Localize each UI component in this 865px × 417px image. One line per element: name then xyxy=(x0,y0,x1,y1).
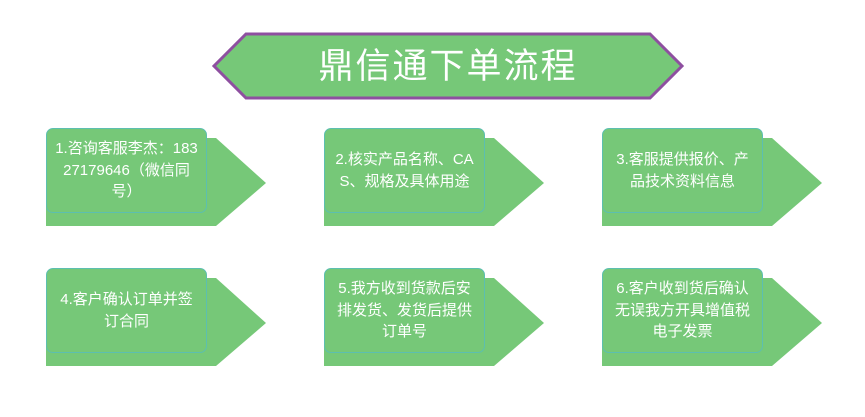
step-label-text: 1.咨询客服李杰：18327179646（微信同号） xyxy=(54,138,199,203)
step-label-text: 6.客户收到货后确认无误我方开具增值税电子发票 xyxy=(610,278,755,343)
step-label-box: 1.咨询客服李杰：18327179646（微信同号） xyxy=(46,128,207,213)
step-label-box: 6.客户收到货后确认无误我方开具增值税电子发票 xyxy=(602,268,763,353)
step-label-box: 2.核实产品名称、CAS、规格及具体用途 xyxy=(324,128,485,213)
flowchart-title-banner: 鼎信通下单流程 xyxy=(212,32,684,100)
process-step-4[interactable]: 4.客户确认订单并签订合同 xyxy=(44,268,274,368)
page-title: 鼎信通下单流程 xyxy=(212,32,684,100)
process-step-6[interactable]: 6.客户收到货后确认无误我方开具增值税电子发票 xyxy=(600,268,830,368)
step-label-box: 3.客服提供报价、产品技术资料信息 xyxy=(602,128,763,213)
process-step-1[interactable]: 1.咨询客服李杰：18327179646（微信同号） xyxy=(44,128,274,228)
step-label-box: 4.客户确认订单并签订合同 xyxy=(46,268,207,353)
step-label-box: 5.我方收到货款后安排发货、发货后提供订单号 xyxy=(324,268,485,353)
process-step-2[interactable]: 2.核实产品名称、CAS、规格及具体用途 xyxy=(322,128,552,228)
step-label-text: 5.我方收到货款后安排发货、发货后提供订单号 xyxy=(332,278,477,343)
process-step-5[interactable]: 5.我方收到货款后安排发货、发货后提供订单号 xyxy=(322,268,552,368)
step-label-text: 3.客服提供报价、产品技术资料信息 xyxy=(610,149,755,193)
step-label-text: 4.客户确认订单并签订合同 xyxy=(54,289,199,333)
flowchart-canvas: 鼎信通下单流程 1.咨询客服李杰：18327179646（微信同号） 2.核实产… xyxy=(0,0,865,417)
process-step-3[interactable]: 3.客服提供报价、产品技术资料信息 xyxy=(600,128,830,228)
step-label-text: 2.核实产品名称、CAS、规格及具体用途 xyxy=(332,149,477,193)
